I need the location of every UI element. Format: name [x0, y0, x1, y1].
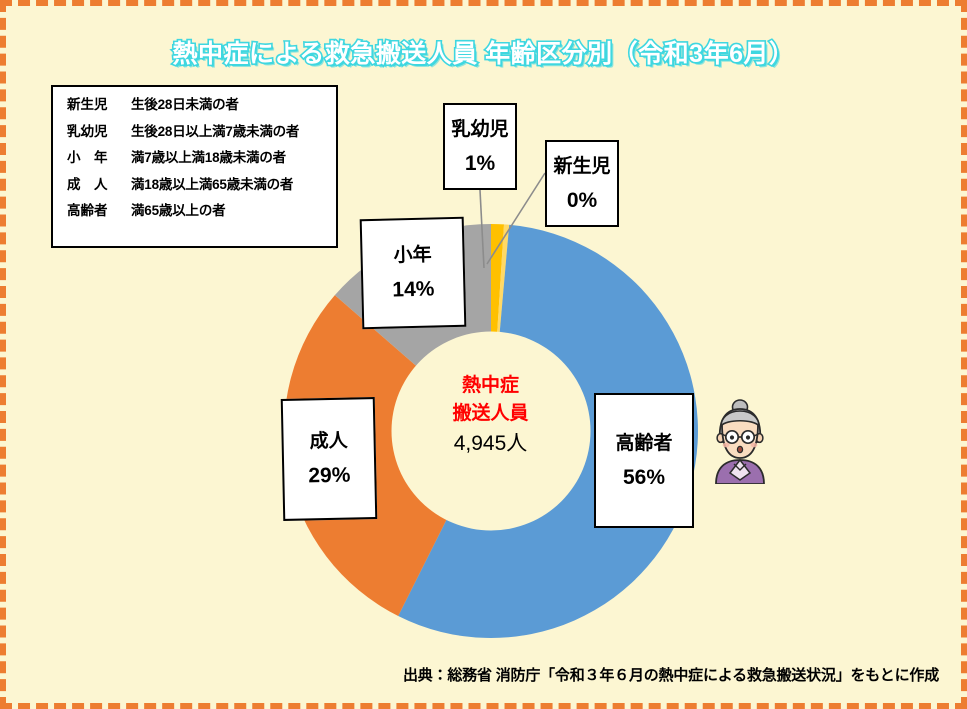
- callout-name: 乳幼児: [451, 120, 508, 139]
- legend-term: 乳幼児: [67, 125, 131, 139]
- callout-nyuyoji: 乳幼児 1%: [443, 103, 517, 190]
- callout-korei: 高齢者 56%: [594, 393, 694, 528]
- legend-term: 成 人: [67, 178, 131, 192]
- callout-percent: 56%: [623, 467, 665, 488]
- callout-name: 高齢者: [615, 434, 672, 453]
- legend-term: 新生児: [67, 98, 131, 112]
- infographic-page: 熱中症による救急搬送人員 年齢区分別（令和3年6月） 新生児 生後28日未満の者…: [0, 0, 967, 709]
- legend-row: 高齢者 満65歳以上の者: [67, 204, 336, 218]
- callout-percent: 29%: [308, 465, 350, 487]
- elderly-woman-icon: [712, 398, 768, 484]
- legend-row: 成 人 満18歳以上満65歳未満の者: [67, 178, 336, 192]
- legend-row: 新生児 生後28日未満の者: [67, 98, 336, 112]
- legend-definition: 生後28日未満の者: [131, 98, 239, 112]
- legend-definition: 満65歳以上の者: [131, 204, 225, 218]
- legend-row: 乳幼児 生後28日以上満7歳未満の者: [67, 125, 336, 139]
- legend-term: 小 年: [67, 151, 131, 165]
- callout-name: 新生児: [553, 157, 610, 176]
- legend-definition: 満18歳以上満65歳未満の者: [131, 178, 293, 192]
- donut-hole: [392, 332, 591, 531]
- legend-term: 高齢者: [67, 204, 131, 218]
- page-title: 熱中症による救急搬送人員 年齢区分別（令和3年6月）: [6, 34, 961, 70]
- callout-percent: 1%: [465, 153, 495, 174]
- legend-definition: 満7歳以上満18歳未満の者: [131, 151, 286, 165]
- callout-shinseiji: 新生児 0%: [545, 140, 619, 227]
- callout-percent: 0%: [567, 190, 597, 211]
- callout-percent: 14%: [392, 278, 435, 300]
- callout-name: 小年: [393, 246, 431, 266]
- source-note: 出典：総務省 消防庁「令和３年６月の熱中症による救急搬送状況」をもとに作成: [6, 664, 939, 685]
- legend-row: 小 年 満7歳以上満18歳未満の者: [67, 151, 336, 165]
- legend-definition: 生後28日以上満7歳未満の者: [131, 125, 299, 139]
- callout-shonen: 小年 14%: [360, 217, 467, 330]
- callout-name: 成人: [309, 432, 347, 452]
- callout-seijin: 成人 29%: [281, 397, 378, 521]
